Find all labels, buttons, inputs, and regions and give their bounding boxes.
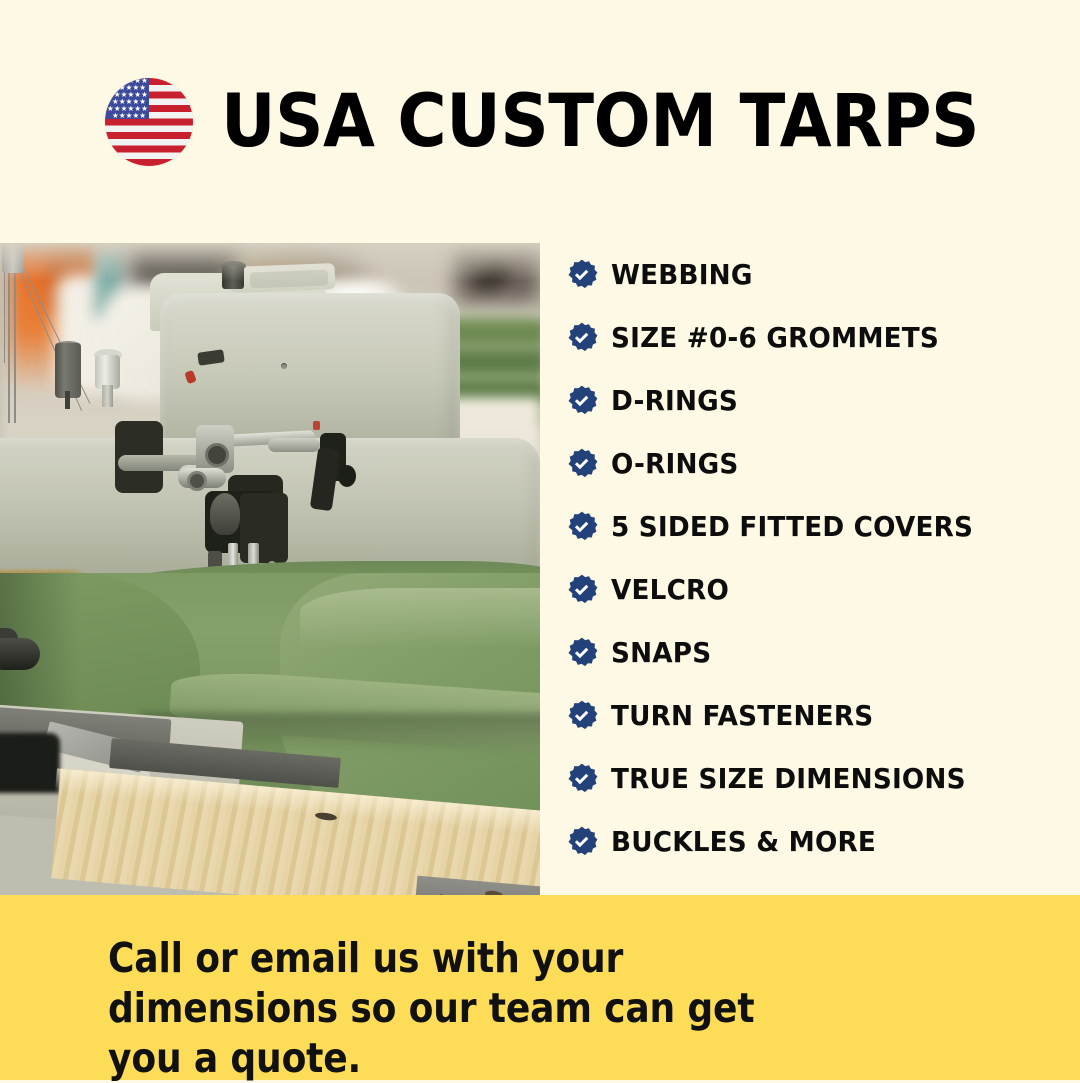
flag-star-row: ★★★★★ [105,112,149,119]
list-item-label: O-RINGS [611,448,739,480]
list-item: WEBBING [566,243,1026,306]
list-item: TURN FASTENERS [566,684,1026,747]
footer-bar: Call or email us with your dimensions so… [0,895,1080,1080]
list-item: O-RINGS [566,432,1026,495]
list-item-label: SNAPS [611,637,711,669]
check-badge-icon [566,763,598,795]
page-title: USA CUSTOM TARPS [221,79,979,164]
feature-list: WEBBING SIZE #0-6 GROMMETS D-RINGS O-RIN… [566,243,1026,873]
list-item: D-RINGS [566,369,1026,432]
check-badge-icon [566,259,598,291]
footer-message: Call or email us with your dimensions so… [108,933,838,1083]
list-item-label: 5 SIDED FITTED COVERS [611,511,973,543]
list-item: 5 SIDED FITTED COVERS [566,495,1026,558]
check-badge-icon [566,700,598,732]
check-badge-icon [566,637,598,669]
usa-flag-circle-icon: ★★★★★★ ★★★★★ ★★★★★★ ★★★★★ ★★★★★★ ★★★★★ [105,78,193,166]
check-badge-icon [566,322,598,354]
list-item-label: TURN FASTENERS [611,700,873,732]
list-item: BUCKLES & MORE [566,810,1026,873]
check-badge-icon [566,574,598,606]
list-item: VELCRO [566,558,1026,621]
list-item-label: D-RINGS [611,385,738,417]
list-item: TRUE SIZE DIMENSIONS [566,747,1026,810]
list-item-label: TRUE SIZE DIMENSIONS [611,763,966,795]
list-item-label: WEBBING [611,259,753,291]
list-item-label: VELCRO [611,574,729,606]
list-item: SIZE #0-6 GROMMETS [566,306,1026,369]
list-item-label: SIZE #0-6 GROMMETS [611,322,939,354]
check-badge-icon [566,511,598,543]
list-item: SNAPS [566,621,1026,684]
list-item-label: BUCKLES & MORE [611,826,876,858]
header-bar: ★★★★★★ ★★★★★ ★★★★★★ ★★★★★ ★★★★★★ ★★★★★ U… [0,0,1080,243]
sewing-machine-photo [0,243,540,895]
check-badge-icon [566,385,598,417]
flag-canton: ★★★★★★ ★★★★★ ★★★★★★ ★★★★★ ★★★★★★ ★★★★★ [105,78,149,120]
check-badge-icon [566,448,598,480]
check-badge-icon [566,826,598,858]
